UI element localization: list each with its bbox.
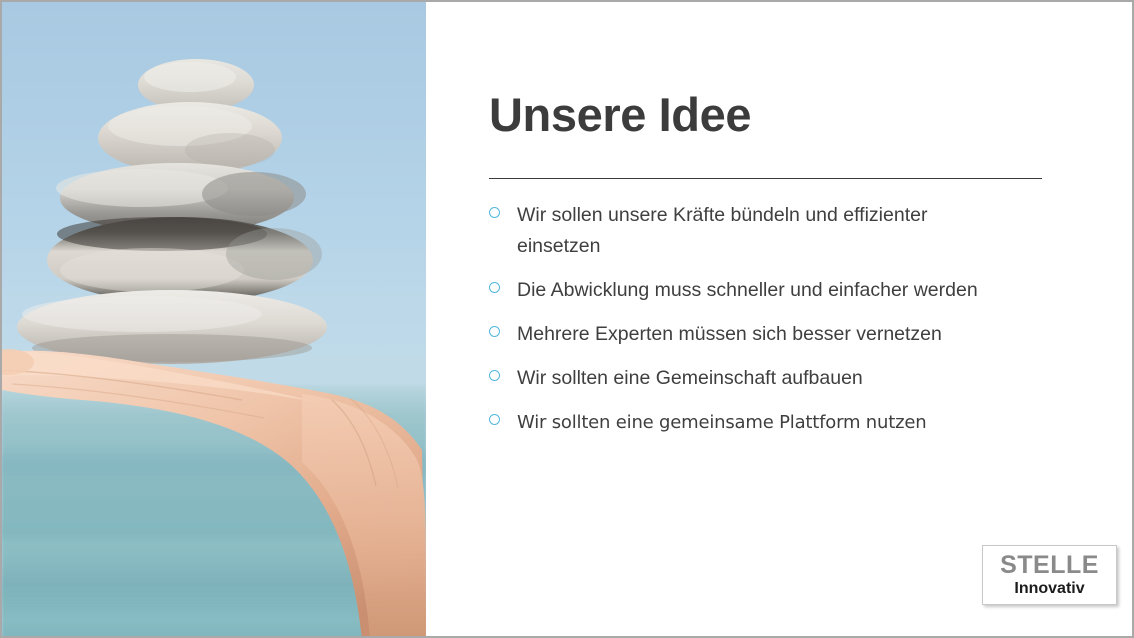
stelle-innovativ-logo: STELLE Innovativ [982,545,1117,605]
title-divider [489,178,1042,179]
hollow-circle-bullet-icon [489,326,500,337]
hollow-circle-bullet-icon [489,414,500,425]
list-item-label: Die Abwicklung muss schneller und einfac… [517,275,987,306]
logo-secondary-text: Innovativ [1014,581,1084,597]
hollow-circle-bullet-icon [489,207,500,218]
list-item: Die Abwicklung muss schneller und einfac… [489,275,1089,306]
list-item: Wir sollen unsere Kräfte bündeln und eff… [489,200,1089,262]
slide-content: Unsere Idee Wir sollen unsere Kräfte bün… [426,2,1132,636]
list-item-label: Wir sollten eine Gemeinschaft aufbauen [517,363,987,394]
list-item: Mehrere Experten müssen sich besser vern… [489,319,1089,350]
list-item-label: Wir sollten eine gemeinsame Plattform nu… [517,407,987,438]
page-title: Unsere Idee [489,90,751,139]
photo-stone-stack [2,2,426,638]
slide-photo-stones-in-hand [2,2,426,638]
bullet-list: Wir sollen unsere Kräfte bündeln und eff… [489,200,1089,451]
list-item-label: Mehrere Experten müssen sich besser vern… [517,319,987,350]
presentation-slide: Unsere Idee Wir sollen unsere Kräfte bün… [0,0,1134,638]
list-item: Wir sollten eine Gemeinschaft aufbauen [489,363,1089,394]
hollow-circle-bullet-icon [489,282,500,293]
logo-primary-text: STELLE [1000,553,1099,578]
list-item: Wir sollten eine gemeinsame Plattform nu… [489,407,1089,438]
list-item-label: Wir sollen unsere Kräfte bündeln und eff… [517,200,987,262]
hollow-circle-bullet-icon [489,370,500,381]
